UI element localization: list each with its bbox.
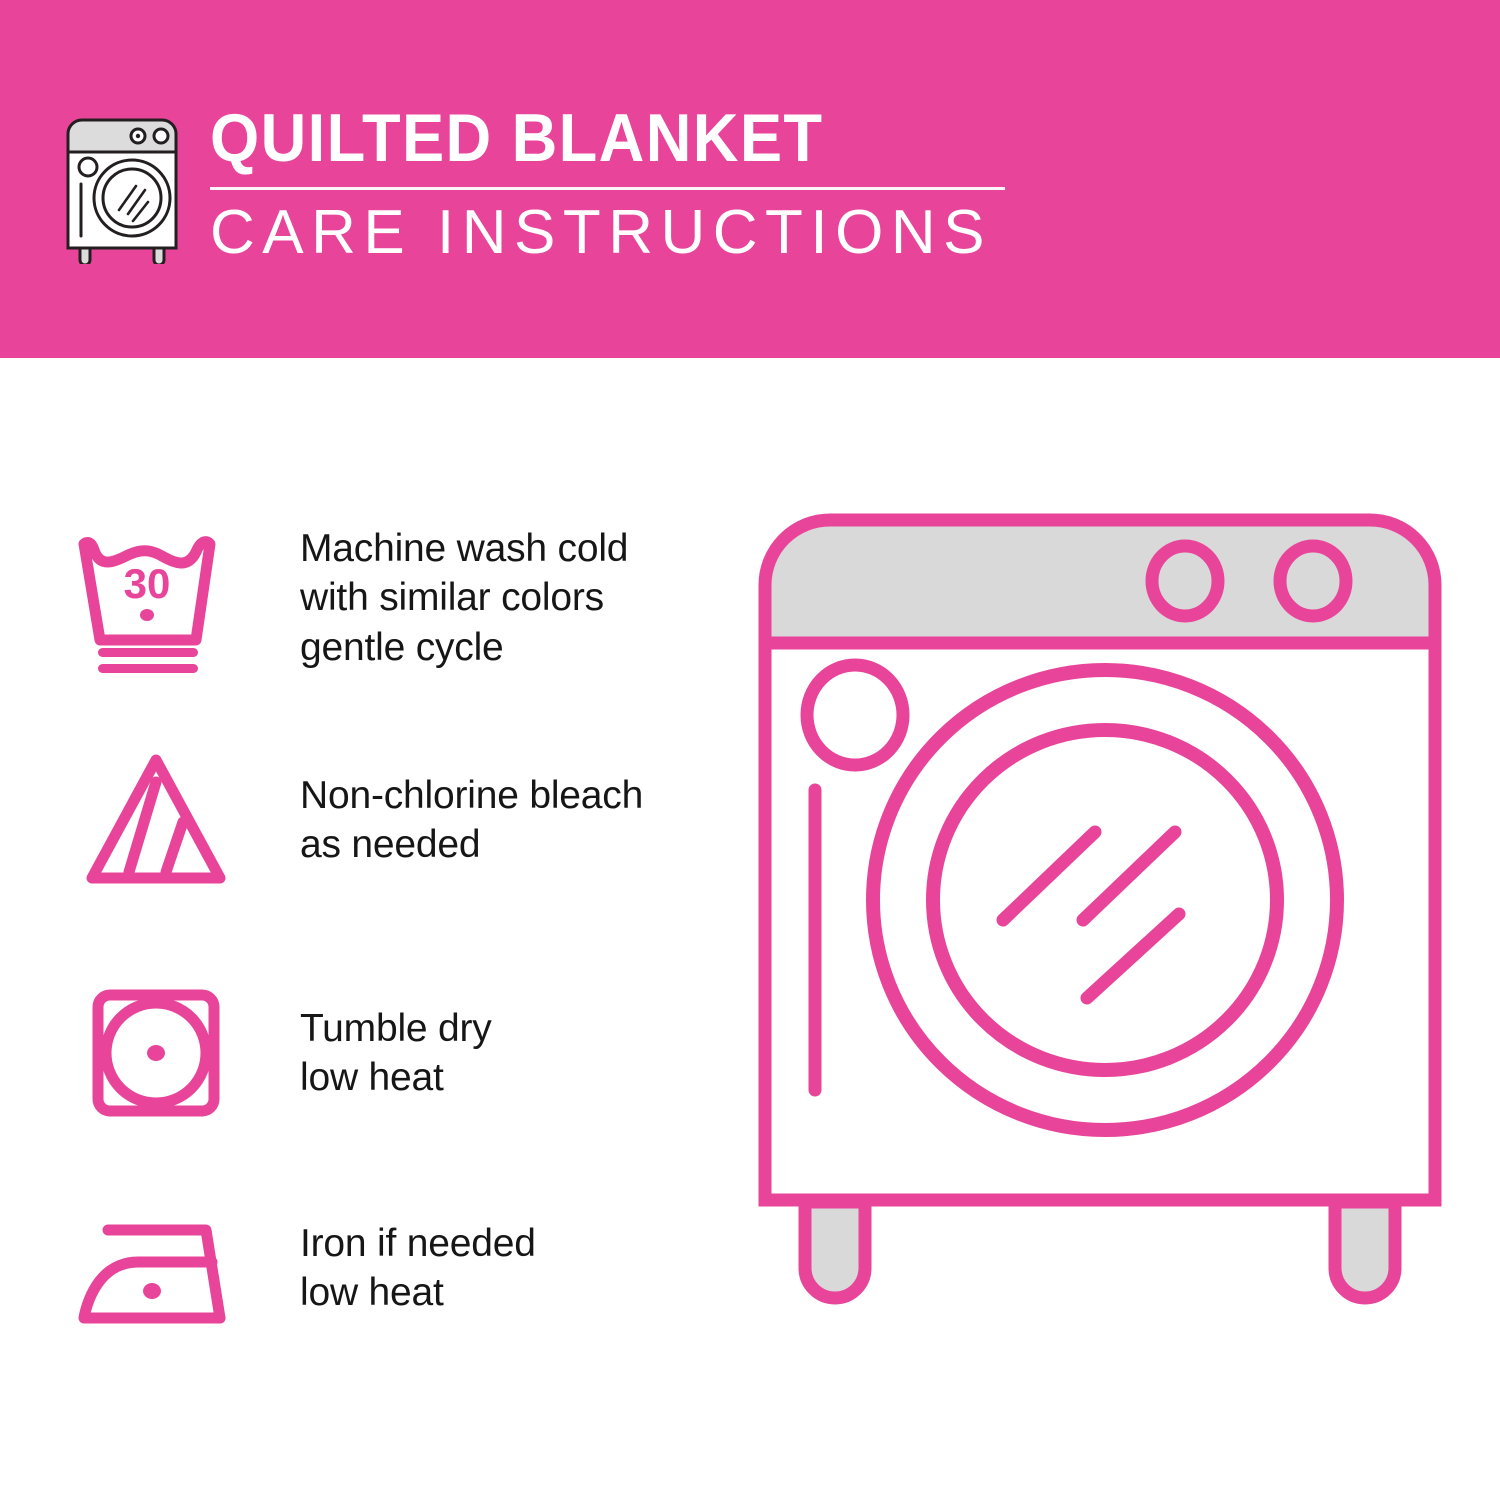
title-divider xyxy=(210,187,1005,190)
care-label-line: low heat xyxy=(300,1053,492,1102)
care-item: 30 Machine wash cold with similar colors… xyxy=(70,518,710,678)
washing-machine-icon xyxy=(62,112,188,264)
care-label-line: Machine wash cold xyxy=(300,524,628,573)
care-item-label: Non-chlorine bleach as needed xyxy=(300,771,643,869)
header-banner: QUILTED BLANKET CARE INSTRUCTIONS xyxy=(0,0,1500,358)
care-label-line: Non-chlorine bleach xyxy=(300,771,643,820)
care-item: Tumble dry low heat xyxy=(70,973,710,1133)
care-item: Iron if needed low heat xyxy=(70,1188,710,1348)
care-item-label: Machine wash cold with similar colors ge… xyxy=(300,524,628,671)
page-subtitle: CARE INSTRUCTIONS xyxy=(210,200,1005,265)
care-label-line: as needed xyxy=(300,820,643,869)
care-label-line: low heat xyxy=(300,1268,536,1317)
header-title-group: QUILTED BLANKET CARE INSTRUCTIONS xyxy=(210,104,1005,265)
header-content: QUILTED BLANKET CARE INSTRUCTIONS xyxy=(62,104,1005,265)
care-label-line: gentle cycle xyxy=(300,623,628,672)
care-label-line: Iron if needed xyxy=(300,1219,536,1268)
non-chlorine-bleach-icon xyxy=(70,740,242,900)
tumble-dry-low-icon xyxy=(70,973,242,1133)
svg-text:30: 30 xyxy=(124,560,171,607)
care-item-label: Iron if needed low heat xyxy=(300,1219,536,1317)
washing-machine-illustration xyxy=(735,490,1465,1420)
care-instruction-list: 30 Machine wash cold with similar colors… xyxy=(0,358,720,1500)
machine-wash-30-gentle-icon: 30 xyxy=(70,518,242,678)
care-label-line: Tumble dry xyxy=(300,1004,492,1053)
care-label-line: with similar colors xyxy=(300,573,628,622)
care-item: Non-chlorine bleach as needed xyxy=(70,740,710,900)
care-item-label: Tumble dry low heat xyxy=(300,1004,492,1102)
page-title: QUILTED BLANKET xyxy=(210,104,949,173)
iron-low-heat-icon xyxy=(70,1188,242,1348)
